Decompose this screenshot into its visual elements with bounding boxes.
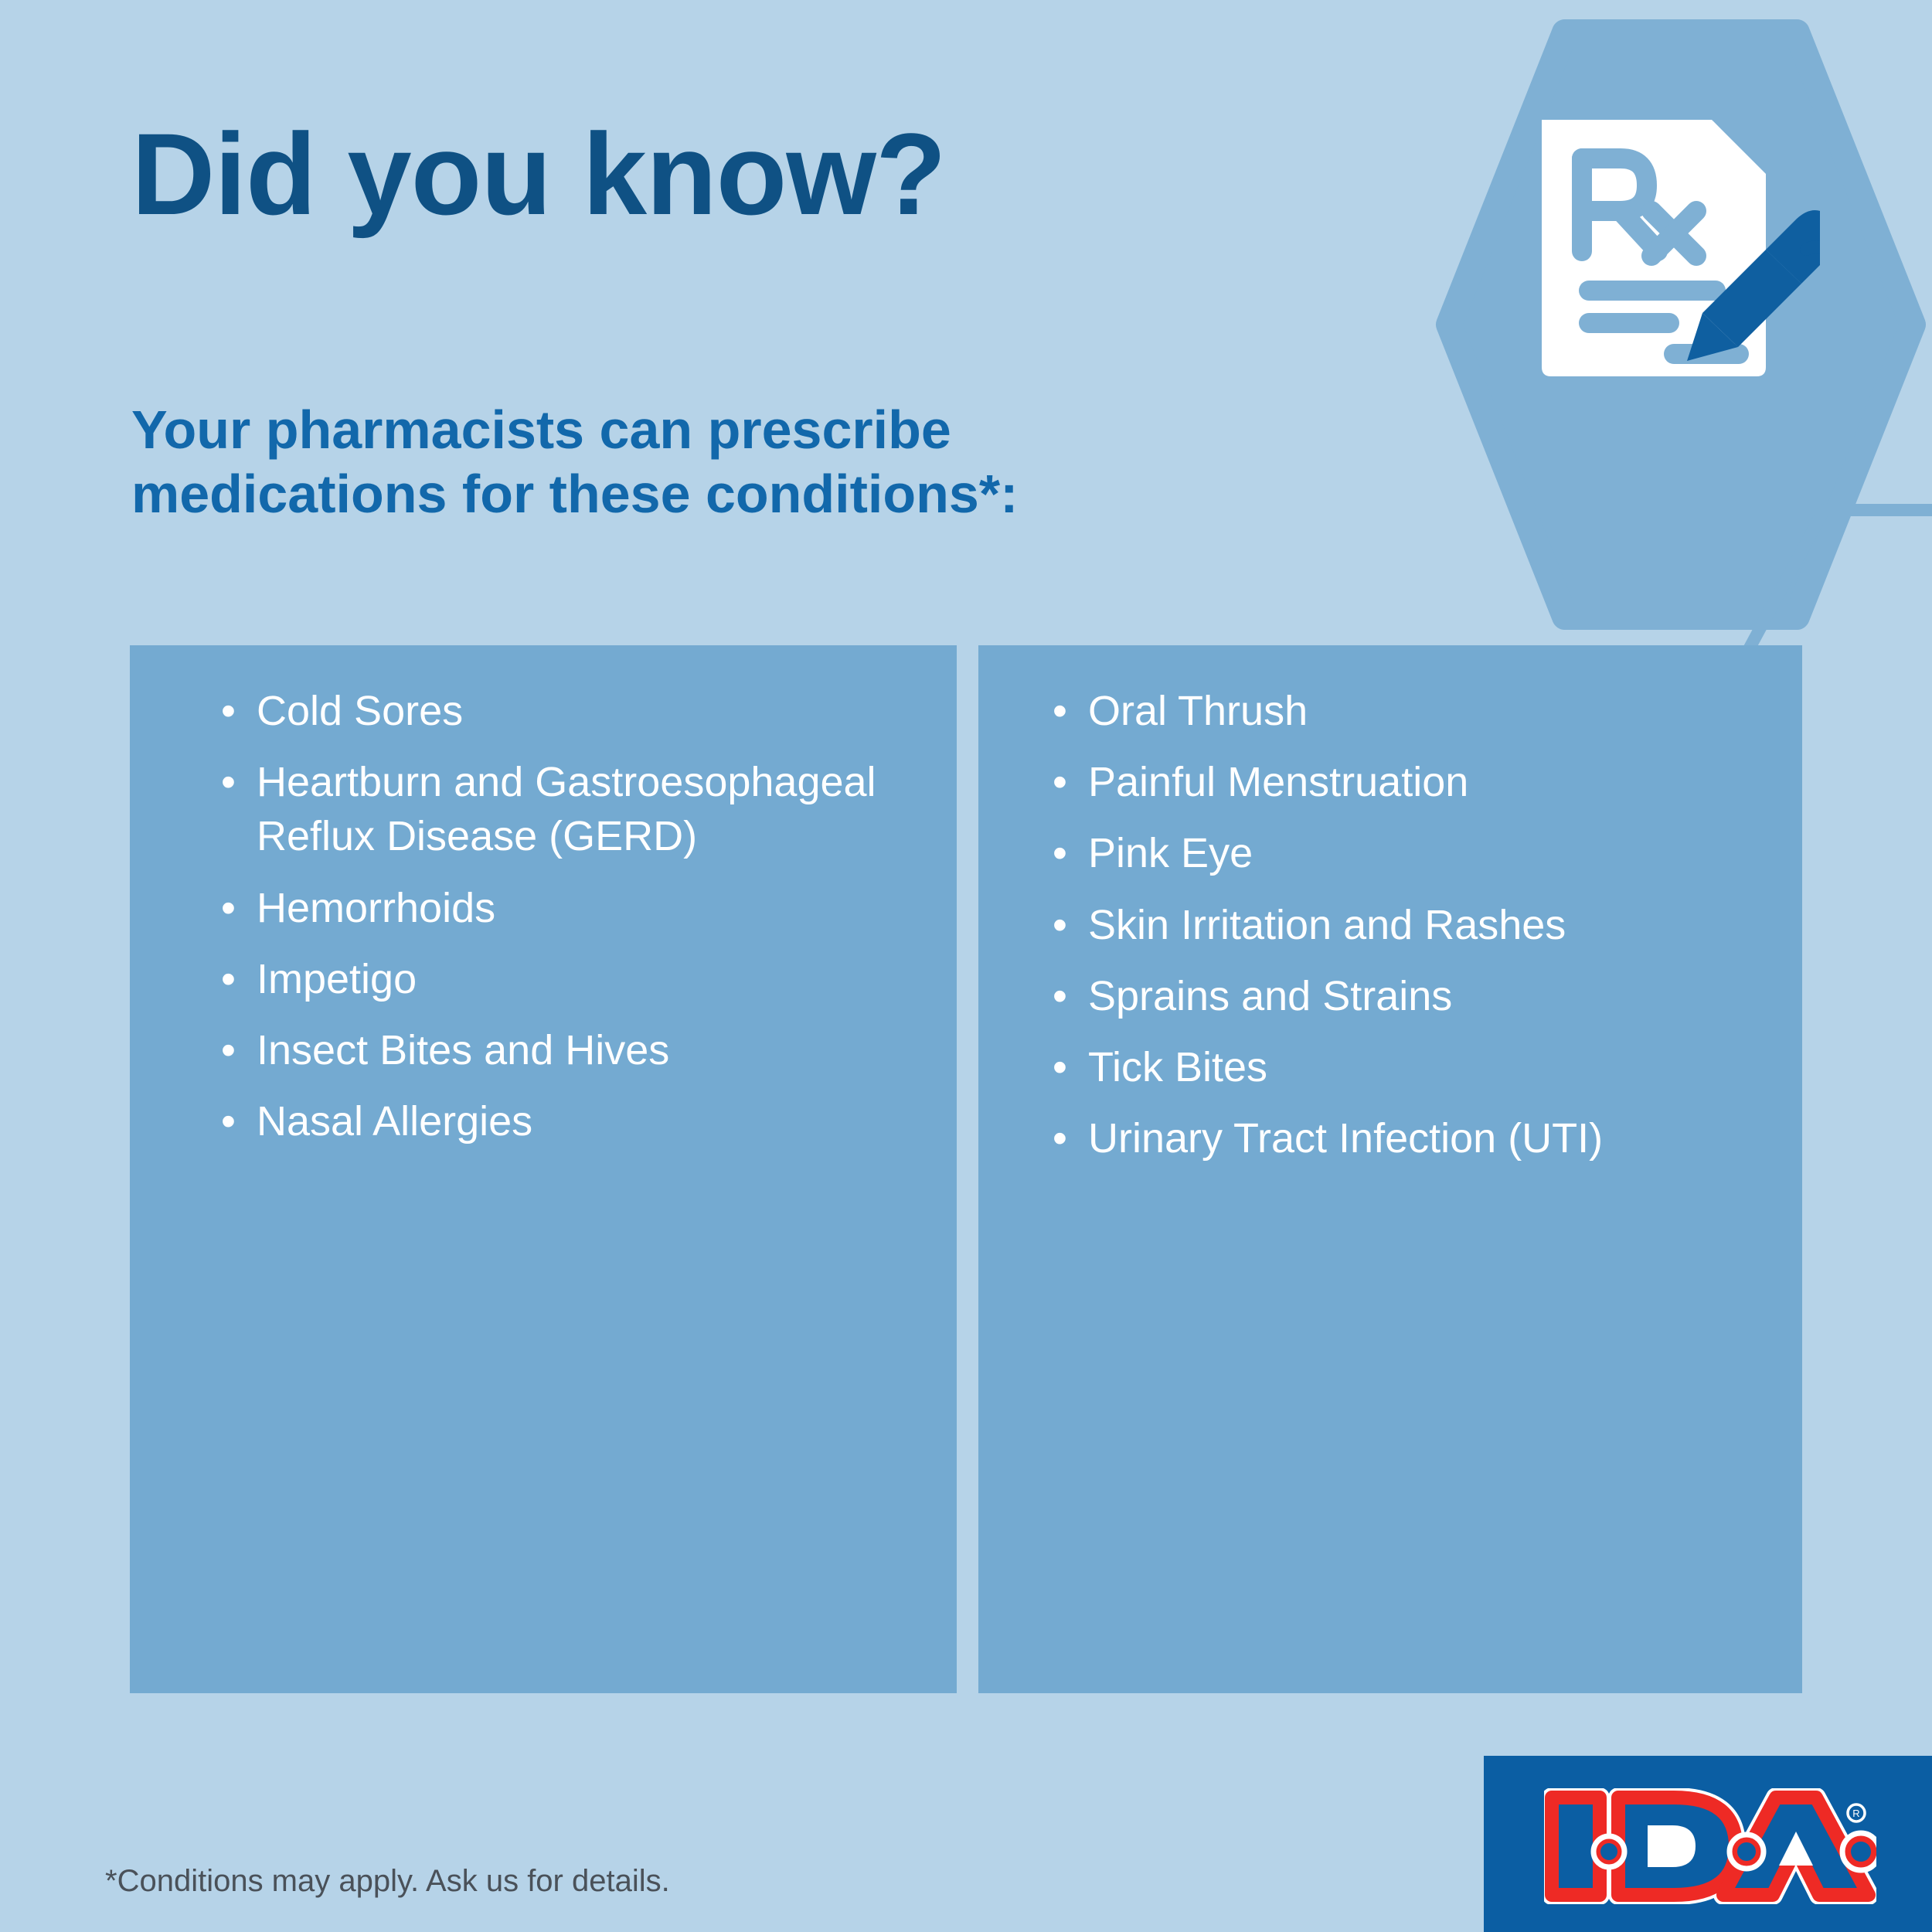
conditions-panel-left: Cold Sores Heartburn and Gastroesophagea…	[130, 645, 957, 1693]
conditions-list-right: Oral Thrush Painful Menstruation Pink Ey…	[1043, 684, 1771, 1165]
list-item: Skin Irritation and Rashes	[1043, 898, 1771, 952]
list-item: Insect Bites and Hives	[212, 1023, 926, 1077]
svg-text:R: R	[1852, 1808, 1859, 1819]
ida-logo: R	[1484, 1756, 1932, 1932]
list-item: Tick Bites	[1043, 1040, 1771, 1094]
disclaimer-footnote: *Conditions may apply. Ask us for detail…	[105, 1864, 670, 1899]
infographic-canvas: Did you know? Your pharmacists can presc…	[0, 0, 1932, 1932]
list-item: Impetigo	[212, 952, 926, 1006]
subtitle-line-1: Your pharmacists can prescribe	[131, 400, 951, 460]
subtitle-line-2: medications for these conditions*:	[131, 462, 1018, 526]
list-item: Urinary Tract Infection (UTI)	[1043, 1111, 1771, 1165]
subtitle: Your pharmacists can prescribe medicatio…	[131, 398, 1018, 526]
list-item: Nasal Allergies	[212, 1094, 926, 1148]
page-title: Did you know?	[131, 116, 946, 232]
prescription-rx-document-icon	[1534, 112, 1820, 406]
list-item: Sprains and Strains	[1043, 969, 1771, 1023]
registered-trademark-icon: R	[1848, 1804, 1865, 1821]
conditions-panel-right: Oral Thrush Painful Menstruation Pink Ey…	[978, 645, 1802, 1693]
list-item: Pink Eye	[1043, 826, 1771, 880]
list-item: Hemorrhoids	[212, 881, 926, 935]
list-item: Oral Thrush	[1043, 684, 1771, 738]
list-item: Cold Sores	[212, 684, 926, 738]
list-item: Painful Menstruation	[1043, 755, 1771, 809]
list-item: Heartburn and Gastroesophageal Reflux Di…	[212, 755, 926, 863]
conditions-list-left: Cold Sores Heartburn and Gastroesophagea…	[212, 684, 926, 1148]
